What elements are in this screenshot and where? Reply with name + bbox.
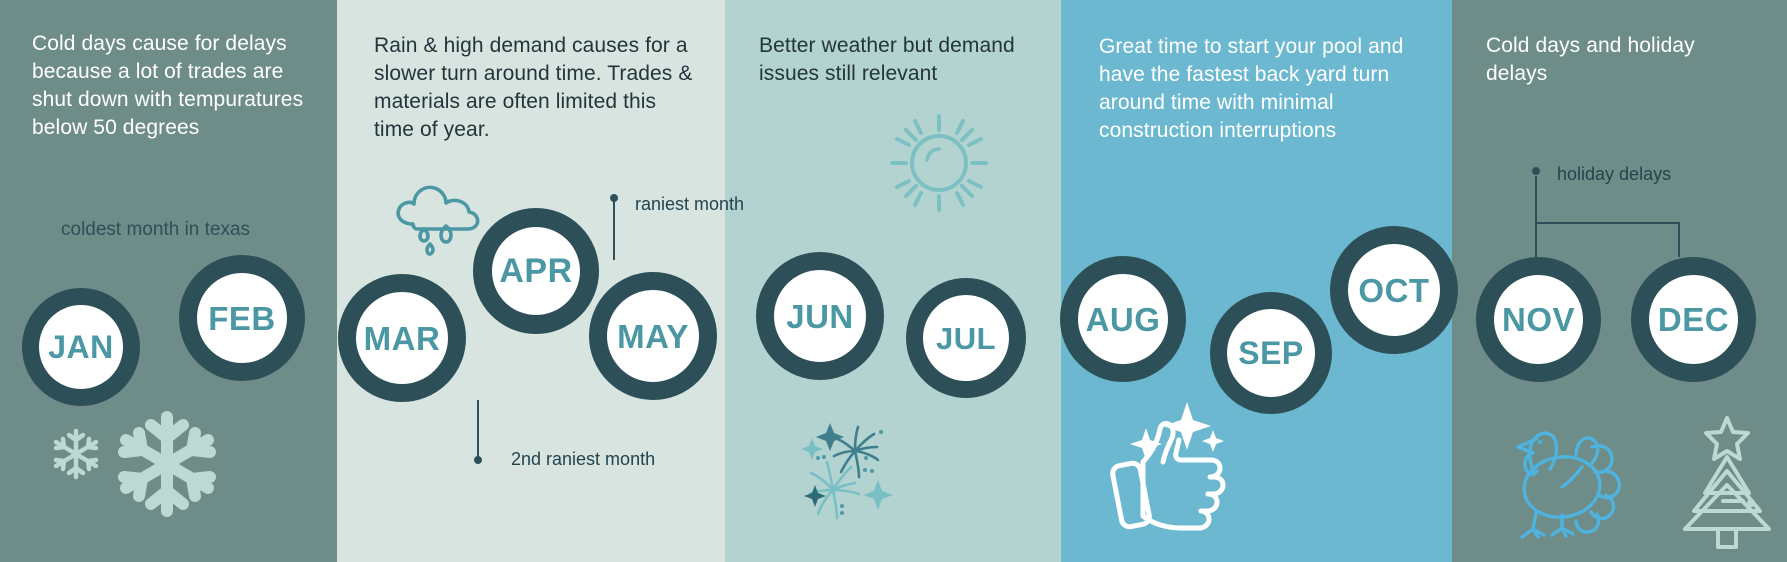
month-label-nov: NOV <box>1502 303 1575 336</box>
month-circle-jul[interactable]: JUL <box>906 278 1026 398</box>
raniest-month-annotation: raniest month <box>635 194 744 215</box>
thumbs-up-icon <box>1115 400 1241 540</box>
month-circle-dec[interactable]: DEC <box>1631 257 1756 382</box>
month-label-jun: JUN <box>786 300 854 333</box>
month-label-may: MAY <box>617 320 689 353</box>
month-label-jan: JAN <box>48 331 114 363</box>
month-label-oct: OCT <box>1358 274 1429 307</box>
panel-early-summer-headline: Better weather but demand issues still r… <box>759 32 1059 88</box>
month-circle-sep[interactable]: SEP <box>1210 292 1332 414</box>
month-circle-jan[interactable]: JAN <box>22 288 140 406</box>
month-label-apr: APR <box>499 254 572 288</box>
raniest-month-leader-dot <box>610 194 618 202</box>
month-label-dec: DEC <box>1658 303 1729 336</box>
month-label-jul: JUL <box>936 323 996 354</box>
holiday-delays-bracket-top <box>1535 222 1537 257</box>
month-label-mar: MAR <box>364 322 441 355</box>
snowflake-large-icon <box>113 405 221 523</box>
month-label-sep: SEP <box>1238 337 1304 369</box>
month-circle-nov[interactable]: NOV <box>1476 257 1601 382</box>
panel-spring-rain-headline: Rain & high demand causes for a slower t… <box>374 32 719 144</box>
panel-winter-start-sublabel: coldest month in texas <box>61 219 250 241</box>
month-circle-oct[interactable]: OCT <box>1330 226 1458 354</box>
panel-peak-season-headline: Great time to start your pool and have t… <box>1099 33 1444 145</box>
infographic-canvas: Cold days cause for delays because a lot… <box>0 0 1787 562</box>
month-circle-apr[interactable]: APR <box>473 208 599 334</box>
holiday-delays-leader-dot <box>1532 167 1540 175</box>
month-label-feb: FEB <box>208 302 276 335</box>
rain-cloud-icon <box>393 178 485 258</box>
christmas-tree-icon <box>1681 415 1773 547</box>
panel-winter-start-headline: Cold days cause for delays because a lot… <box>32 30 317 142</box>
month-circle-mar[interactable]: MAR <box>338 274 466 402</box>
month-circle-feb[interactable]: FEB <box>179 255 305 381</box>
second-raniest-month-leader-line <box>477 400 479 460</box>
month-circle-jun[interactable]: JUN <box>756 252 884 380</box>
sun-icon <box>884 108 994 218</box>
turkey-icon <box>1500 425 1630 545</box>
raniest-month-leader-line <box>613 198 615 260</box>
month-label-aug: AUG <box>1086 303 1161 336</box>
panel-holiday-season-headline: Cold days and holiday delays <box>1486 32 1776 88</box>
fireworks-icon <box>785 418 920 526</box>
holiday-delays-bracket-horizontal <box>1535 222 1680 224</box>
second-raniest-month-leader-dot <box>474 456 482 464</box>
month-circle-may[interactable]: MAY <box>589 272 717 400</box>
holiday-delays-annotation: holiday delays <box>1557 164 1671 185</box>
second-raniest-month-annotation: 2nd raniest month <box>511 449 655 470</box>
holiday-delays-leader-stem <box>1535 176 1537 222</box>
holiday-delays-bracket-right <box>1678 222 1680 257</box>
month-circle-aug[interactable]: AUG <box>1060 256 1186 382</box>
snowflake-small-icon <box>50 425 102 483</box>
